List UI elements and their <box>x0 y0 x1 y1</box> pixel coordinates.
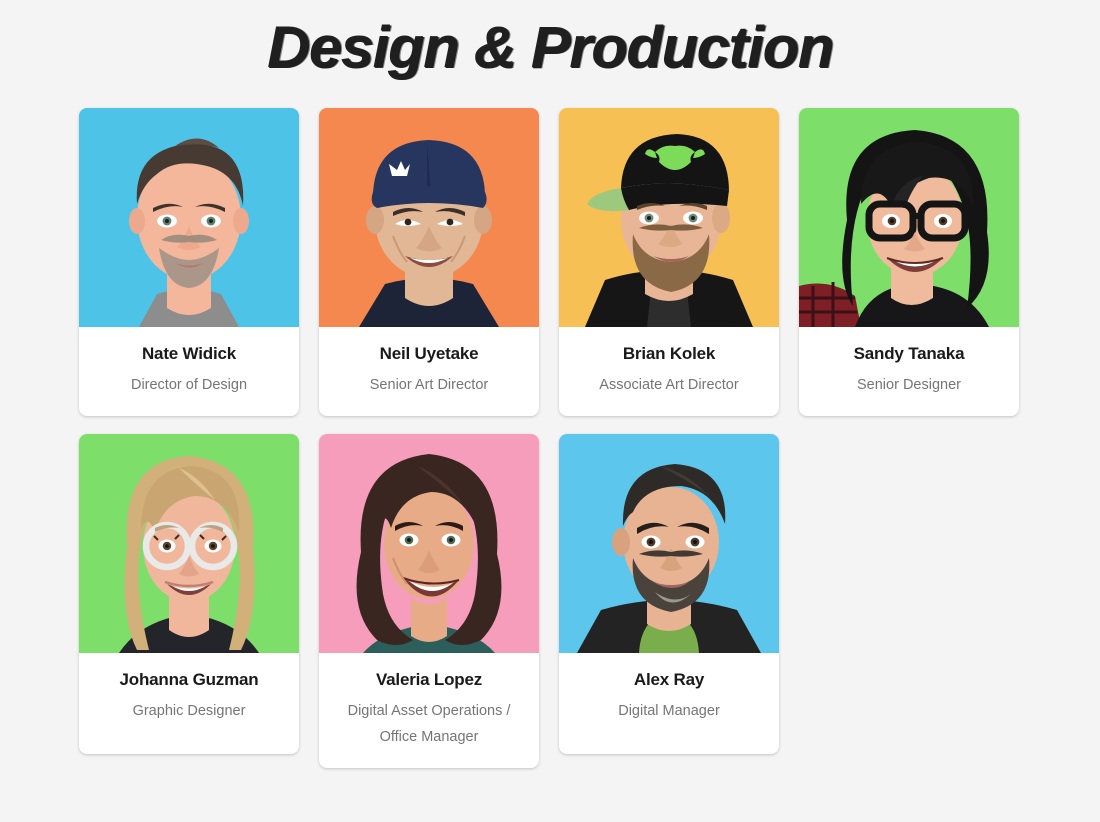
avatar-illustration-valeria-lopez-icon <box>319 434 539 653</box>
member-name: Nate Widick <box>89 343 289 365</box>
card-body: Neil Uyetake Senior Art Director <box>319 327 539 416</box>
avatar-illustration-neil-uyetake-icon <box>319 108 539 327</box>
member-name: Brian Kolek <box>569 343 769 365</box>
team-member-card[interactable]: Brian Kolek Associate Art Director <box>559 108 779 416</box>
member-name: Alex Ray <box>569 669 769 691</box>
member-role: Graphic Designer <box>89 698 289 724</box>
card-body: Nate Widick Director of Design <box>79 327 299 416</box>
card-body: Valeria Lopez Digital Asset Operations /… <box>319 653 539 768</box>
team-grid: Nate Widick Director of Design <box>79 108 1021 768</box>
member-name: Valeria Lopez <box>329 669 529 691</box>
member-name: Sandy Tanaka <box>809 343 1009 365</box>
card-body: Brian Kolek Associate Art Director <box>559 327 779 416</box>
avatar <box>559 434 779 653</box>
team-member-card[interactable]: Alex Ray Digital Manager <box>559 434 779 754</box>
member-role: Senior Designer <box>809 372 1009 398</box>
avatar-illustration-johanna-guzman-icon <box>79 434 299 653</box>
card-body: Johanna Guzman Graphic Designer <box>79 653 299 754</box>
card-body: Alex Ray Digital Manager <box>559 653 779 754</box>
avatar <box>79 434 299 653</box>
member-role: Senior Art Director <box>329 372 529 398</box>
team-member-card[interactable]: Johanna Guzman Graphic Designer <box>79 434 299 754</box>
avatar <box>799 108 1019 327</box>
team-page: Design & Production <box>0 0 1100 822</box>
member-role: Associate Art Director <box>569 372 769 398</box>
team-member-card[interactable]: Valeria Lopez Digital Asset Operations /… <box>319 434 539 768</box>
member-role: Director of Design <box>89 372 289 398</box>
avatar-illustration-sandy-tanaka-icon <box>799 108 1019 327</box>
member-name: Johanna Guzman <box>89 669 289 691</box>
team-member-card[interactable]: Neil Uyetake Senior Art Director <box>319 108 539 416</box>
avatar <box>319 108 539 327</box>
avatar-illustration-alex-ray-icon <box>559 434 779 653</box>
avatar-illustration-nate-widick-icon <box>79 108 299 327</box>
member-name: Neil Uyetake <box>329 343 529 365</box>
avatar <box>559 108 779 327</box>
avatar-illustration-brian-kolek-icon <box>559 108 779 327</box>
page-title: Design & Production <box>0 0 1100 88</box>
card-body: Sandy Tanaka Senior Designer <box>799 327 1019 416</box>
team-member-card[interactable]: Nate Widick Director of Design <box>79 108 299 416</box>
team-member-card[interactable]: Sandy Tanaka Senior Designer <box>799 108 1019 416</box>
avatar <box>319 434 539 653</box>
member-role: Digital Manager <box>569 698 769 724</box>
avatar <box>79 108 299 327</box>
member-role: Digital Asset Operations / Office Manage… <box>329 698 529 750</box>
